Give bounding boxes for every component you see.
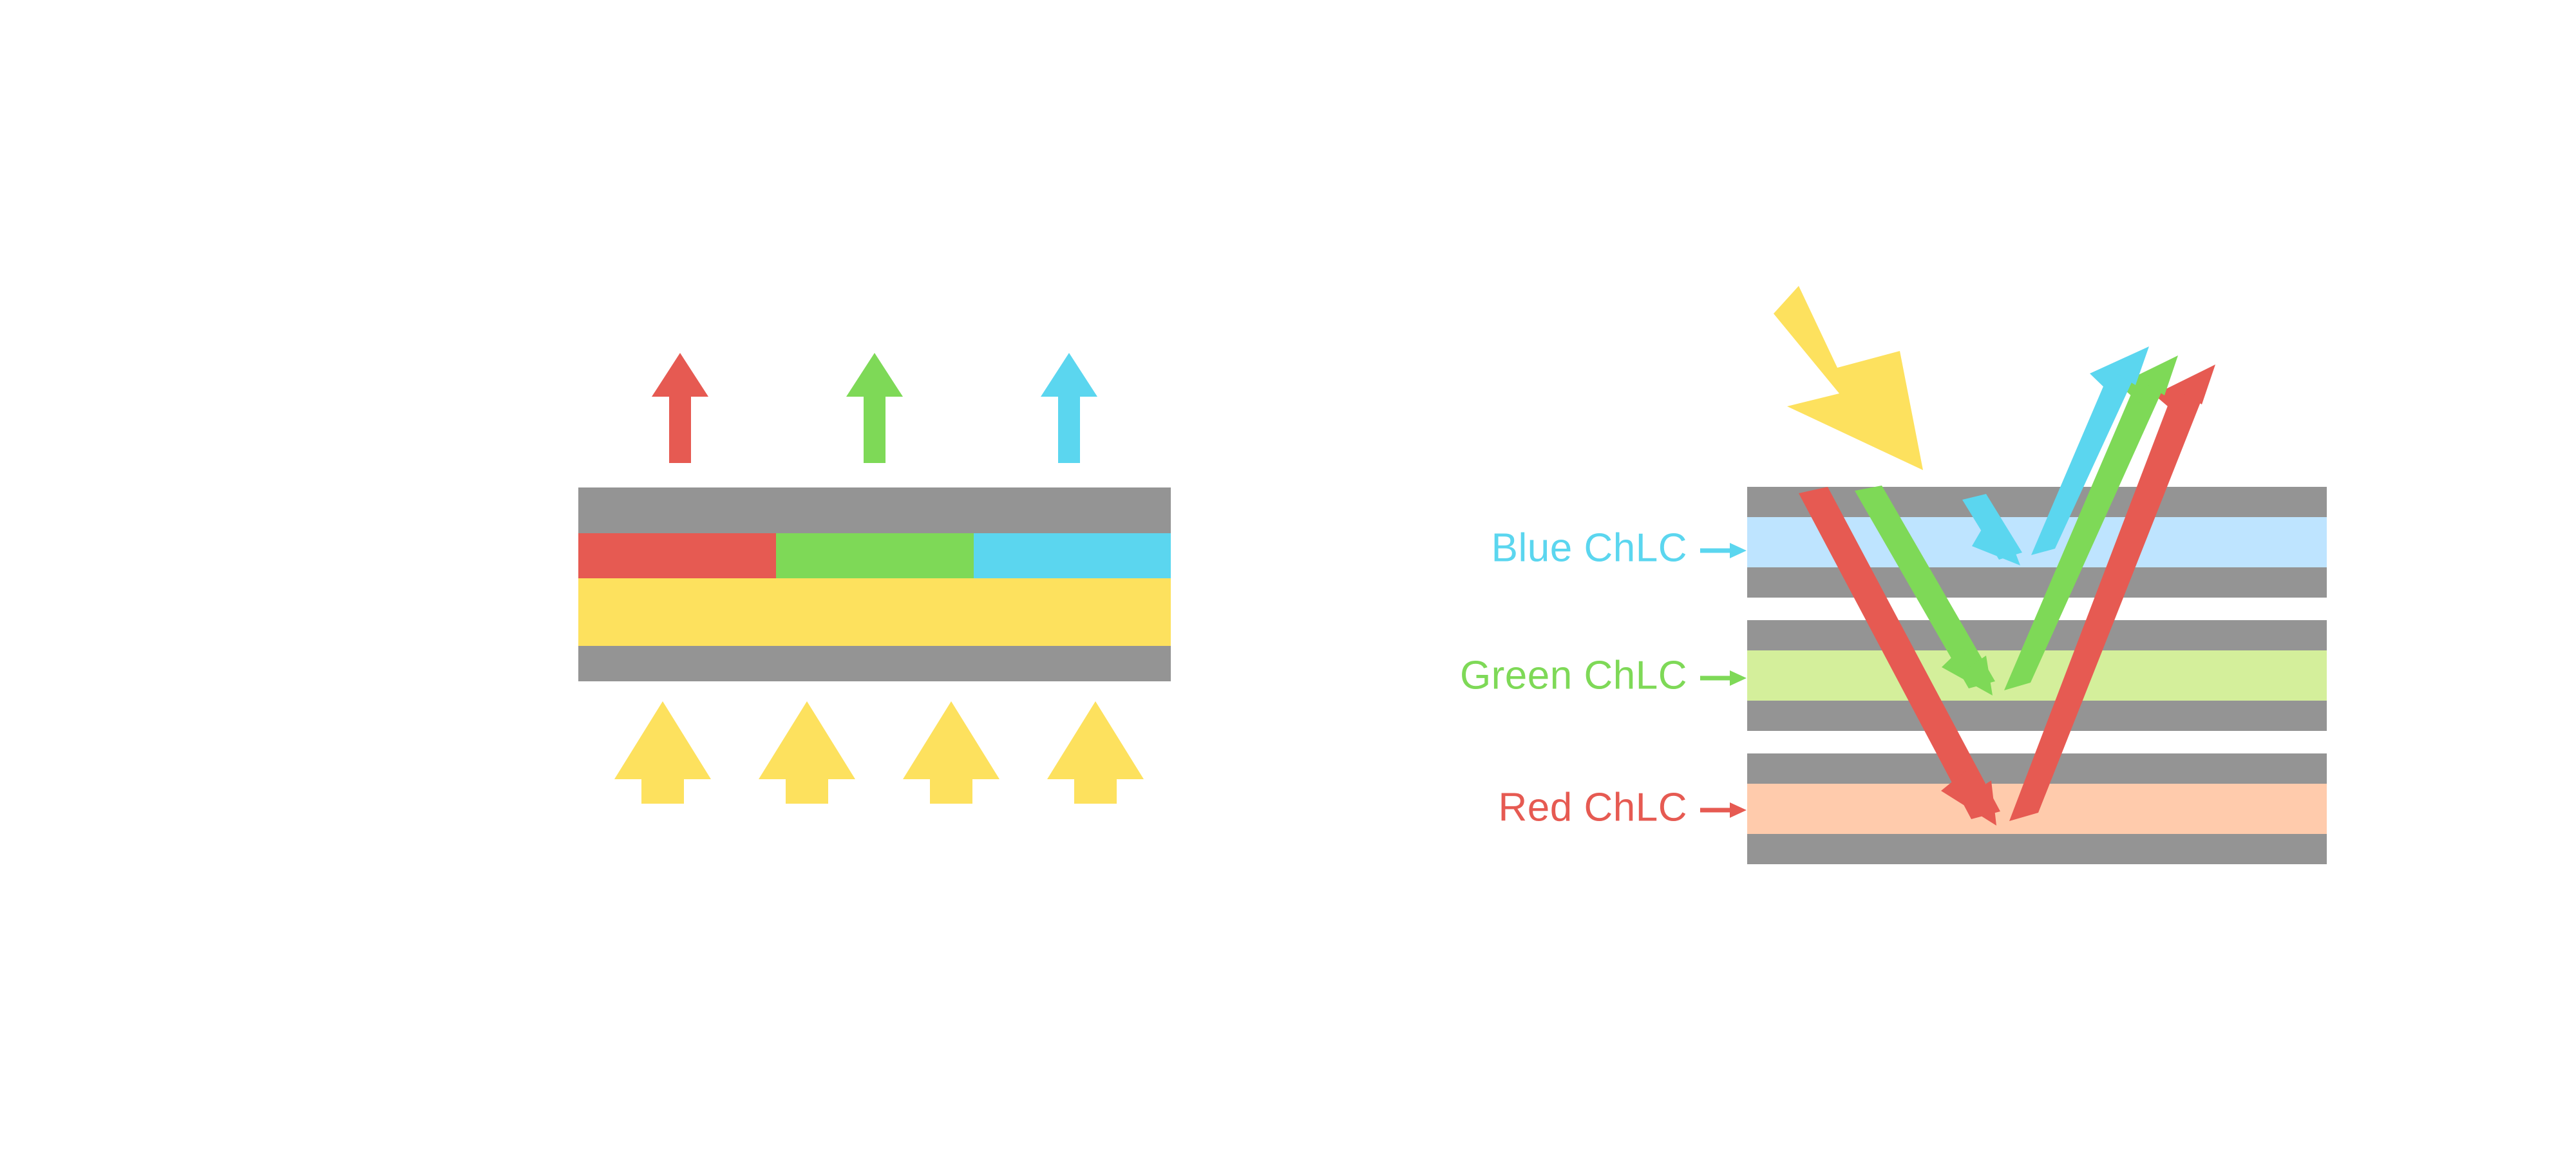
red-chlc-label-arrow-icon <box>1700 802 1747 818</box>
bottom-electrode-layer <box>578 646 1171 681</box>
green-chlc-label-group: Green ChLC <box>1460 653 1747 697</box>
blue-cell-bottom-electrode <box>1747 567 2327 598</box>
diagram-svg: Blue ChLC Green ChLC Red ChLC <box>0 0 2576 1154</box>
blue-emission-arrow <box>1041 353 1097 463</box>
red-cell-bottom-electrode <box>1747 834 2327 864</box>
emissive-layer-stack <box>578 487 1171 681</box>
green-emission-arrow <box>846 353 903 463</box>
backlight-layer <box>578 578 1171 646</box>
red-filter-segment <box>578 533 776 578</box>
reflection-panel: Blue ChLC Green ChLC Red ChLC <box>1460 286 2327 864</box>
blue-chlc-label-group: Blue ChLC <box>1492 525 1747 570</box>
red-chlc-label-group: Red ChLC <box>1499 785 1747 829</box>
green-cell-bottom-electrode <box>1747 701 2327 731</box>
backlight-arrow-2 <box>759 701 855 804</box>
green-filter-segment <box>776 533 974 578</box>
emission-panel <box>578 353 1171 804</box>
red-chlc-label: Red ChLC <box>1499 785 1687 829</box>
incident-white-light-arrow <box>1774 286 1923 470</box>
backlight-arrow-1 <box>614 701 711 804</box>
blue-chlc-label: Blue ChLC <box>1492 525 1687 570</box>
blue-filter-segment <box>974 533 1171 578</box>
green-chlc-label-arrow-icon <box>1700 670 1747 686</box>
backlight-arrow-4 <box>1047 701 1144 804</box>
top-electrode-layer <box>578 487 1171 533</box>
backlight-arrows <box>614 701 1144 804</box>
green-chlc-label: Green ChLC <box>1460 653 1687 697</box>
backlight-arrow-3 <box>903 701 999 804</box>
red-emission-arrow <box>652 353 708 463</box>
figure-canvas: Blue ChLC Green ChLC Red ChLC <box>0 0 2576 1154</box>
blue-chlc-label-arrow-icon <box>1700 543 1747 558</box>
